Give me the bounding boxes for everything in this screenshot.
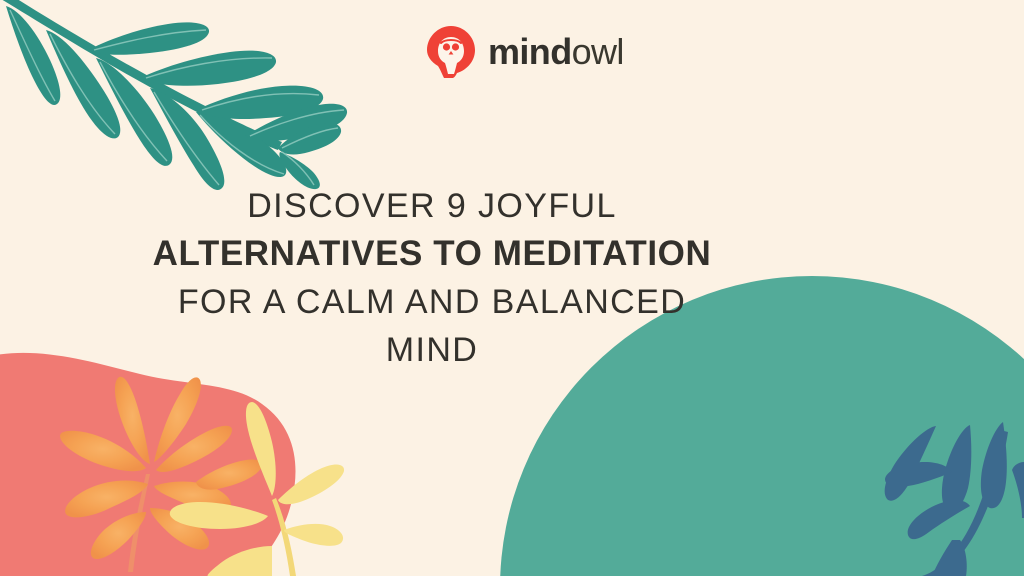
headline-line-2: ALTERNATIVES TO MEDITATION [112,230,752,278]
headline-line-3: FOR A CALM AND BALANCED [112,278,752,326]
wordmark-light: owl [572,31,624,72]
wordmark-bold: mind [488,31,572,72]
poster-canvas: mindowl DISCOVER 9 JOYFUL ALTERNATIVES T… [0,0,1024,576]
owl-in-circle-icon [424,24,478,78]
headline-line-1: DISCOVER 9 JOYFUL [112,182,752,230]
brand-logo[interactable]: mindowl [424,24,624,78]
page-title: DISCOVER 9 JOYFUL ALTERNATIVES TO MEDITA… [112,182,752,374]
brand-wordmark: mindowl [488,34,624,70]
headline-line-4: MIND [112,326,752,374]
